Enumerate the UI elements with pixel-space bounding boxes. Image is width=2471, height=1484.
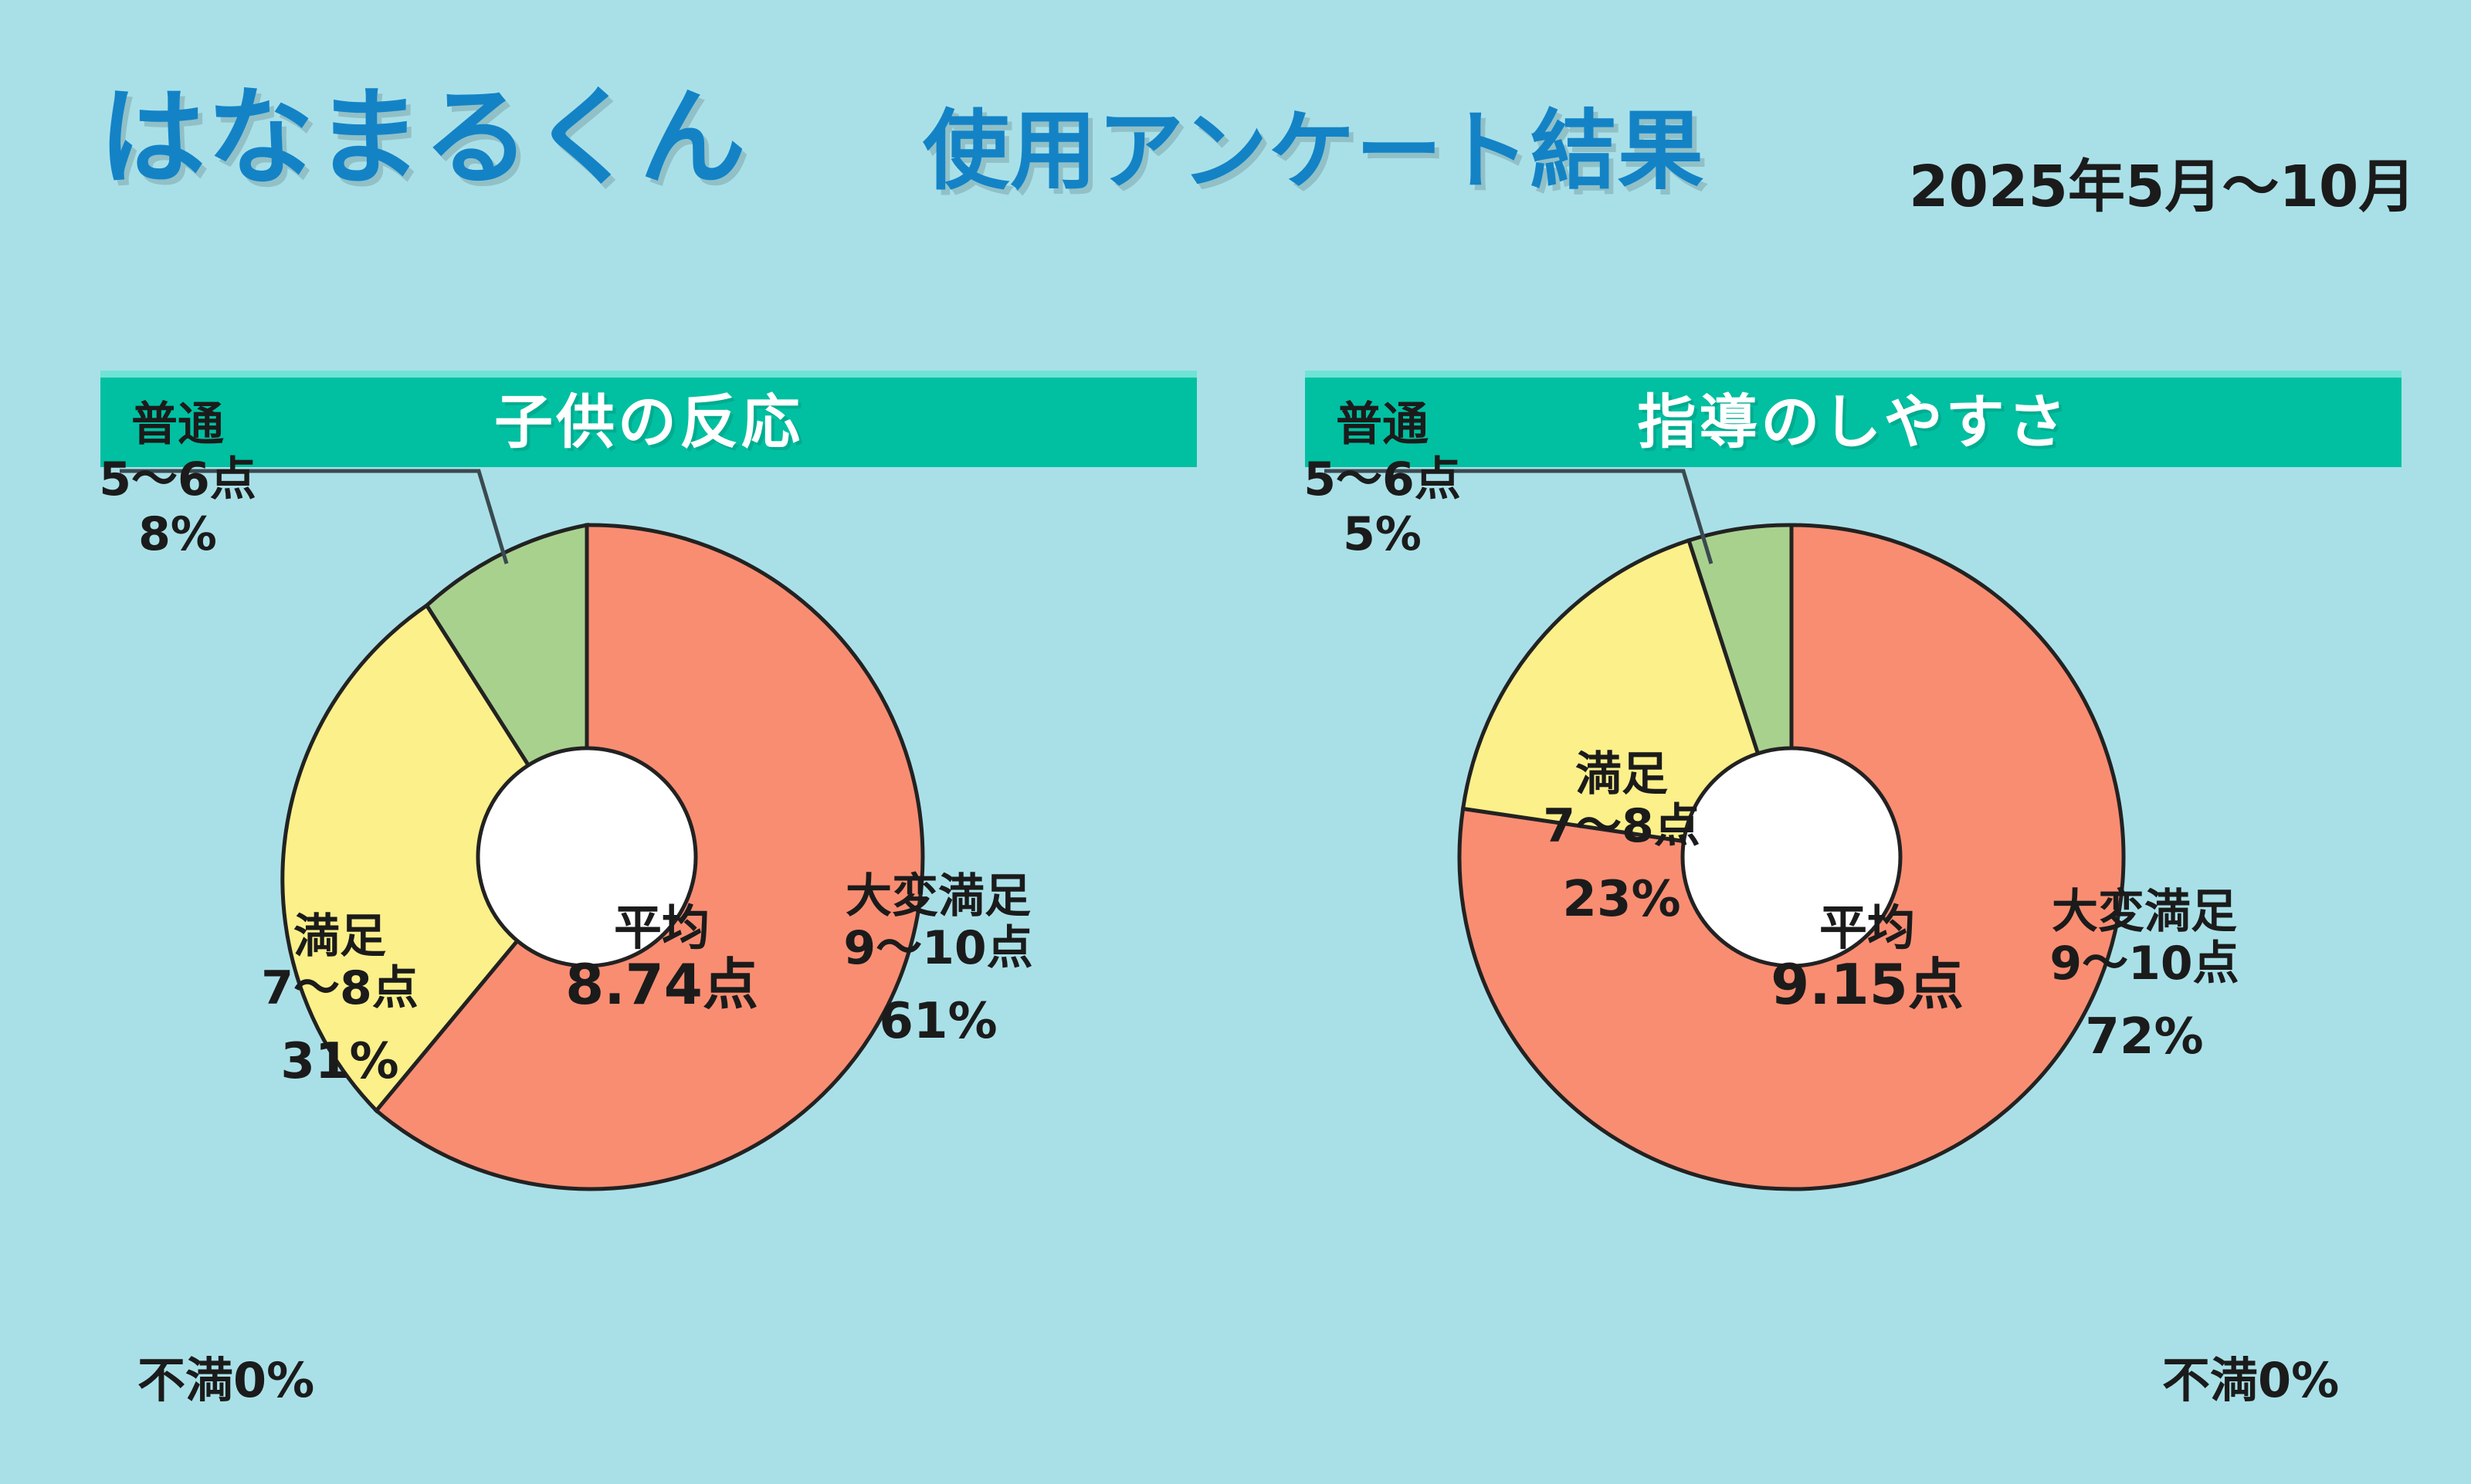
slice-label-percent: 72% (1978, 1010, 2310, 1066)
zero-dissatisfied-note-children: 不満0% (137, 1357, 314, 1404)
callout-neutral-instruction: 普通 5〜6点 5% (1255, 398, 1510, 561)
slice-label-name: 大変満足 (772, 871, 1104, 923)
slice-label-name: 満足 (193, 911, 486, 963)
average-caption: 平均 (538, 902, 785, 954)
slice-label-percent: 61% (772, 994, 1104, 1050)
slice-label-percent: 31% (193, 1035, 486, 1090)
slice-label-range: 7〜8点 (193, 963, 486, 1015)
slice-label-range: 9〜10点 (1978, 938, 2310, 990)
pie-center-label-children: 平均 8.74点 (538, 902, 785, 1015)
callout-percent: 8% (50, 507, 305, 562)
slice-label-range: 9〜10点 (772, 923, 1104, 974)
pie-center-label-instruction: 平均 9.15点 (1744, 902, 1991, 1015)
average-caption: 平均 (1744, 902, 1991, 954)
callout-range: 5〜6点 (1255, 452, 1510, 507)
slice-label-satisfied-instruction: 満足 7〜8点 23% (1483, 749, 1761, 928)
panel-banner-label: 指導のしやすさ (1637, 393, 2069, 452)
slice-label-very-satisfied-instruction: 大変満足 9〜10点 72% (1978, 886, 2310, 1066)
page-header: はなまるくん 使用アンケート結果 2025年5月〜10月 (0, 0, 2471, 309)
panel-banner-label: 子供の反応 (494, 393, 803, 452)
average-value: 9.15点 (1744, 954, 1991, 1015)
survey-period: 2025年5月〜10月 (1909, 158, 2415, 215)
callout-percent: 5% (1255, 507, 1510, 562)
callout-name: 普通 (50, 398, 305, 452)
callout-range: 5〜6点 (50, 452, 305, 507)
average-value: 8.74点 (538, 954, 785, 1015)
pie-chart-children-reaction (247, 517, 927, 1197)
slice-label-percent: 23% (1483, 872, 1761, 928)
page-title-subject: 使用アンケート結果 (923, 108, 1705, 195)
slice-label-name: 大変満足 (1978, 886, 2310, 938)
callout-neutral-children: 普通 5〜6点 8% (50, 398, 305, 561)
pie-svg (247, 517, 927, 1197)
slice-label-very-satisfied-children: 大変満足 9〜10点 61% (772, 871, 1104, 1050)
zero-dissatisfied-note-instruction: 不満0% (2162, 1357, 2339, 1404)
slice-label-name: 満足 (1483, 749, 1761, 801)
slice-label-range: 7〜8点 (1483, 801, 1761, 852)
callout-name: 普通 (1255, 398, 1510, 452)
slice-label-satisfied-children: 満足 7〜8点 31% (193, 911, 486, 1090)
page-title-product: はなまるくん (99, 85, 747, 191)
